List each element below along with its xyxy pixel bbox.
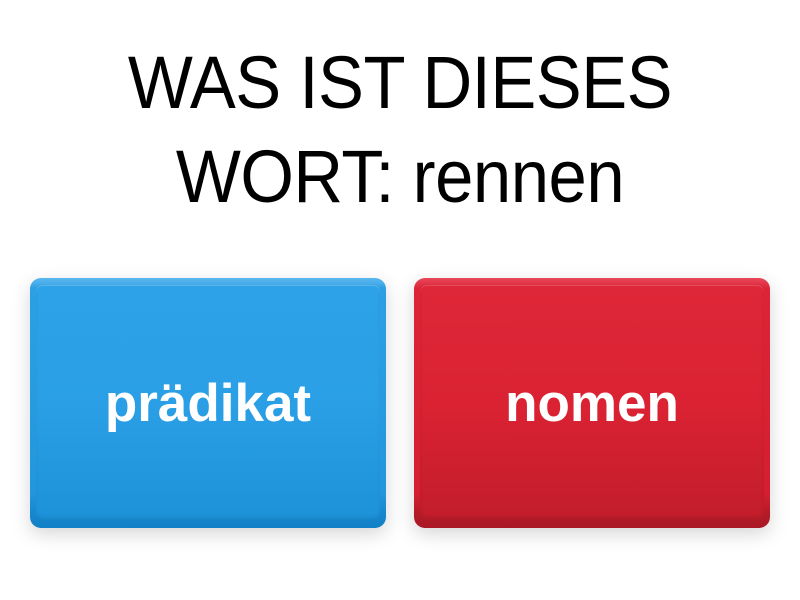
answer-option-nomen[interactable]: nomen [414,278,770,528]
question-block: WAS IST DIESES WORT: rennen [0,36,800,224]
answer-option-pradikat[interactable]: prädikat [30,278,386,528]
answer-option-label: prädikat [95,377,321,430]
question-text: WAS IST DIESES WORT: rennen [28,36,772,224]
quiz-stage: WAS IST DIESES WORT: rennen prädikat nom… [0,0,800,600]
answer-option-label: nomen [495,377,689,430]
answer-options-row: prädikat nomen [30,278,770,534]
